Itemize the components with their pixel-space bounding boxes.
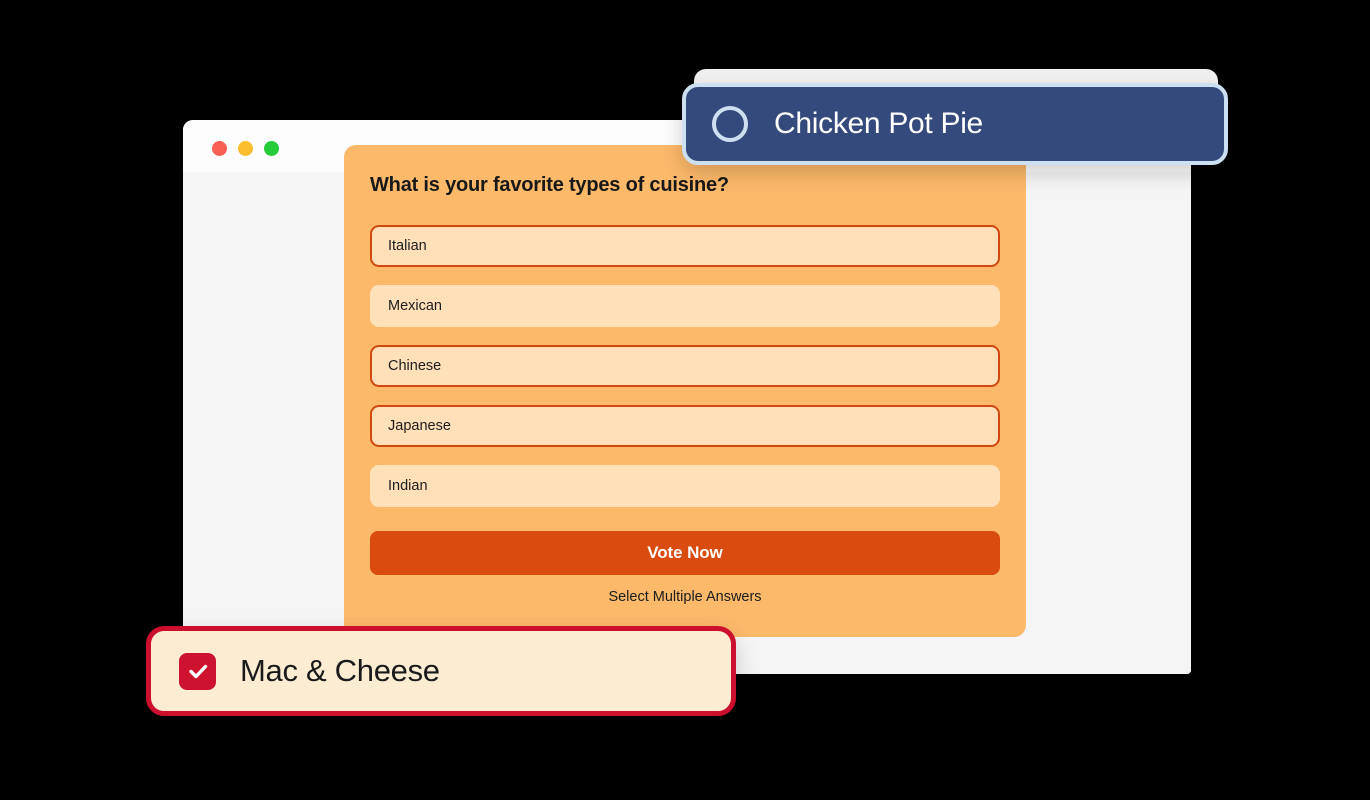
radio-circle-icon[interactable]: [712, 106, 748, 142]
floating-checkbox-card[interactable]: Mac & Cheese: [146, 626, 736, 716]
poll-card: What is your favorite types of cuisine? …: [344, 145, 1026, 637]
poll-option-label: Japanese: [388, 418, 451, 434]
floating-radio-card-label: Chicken Pot Pie: [774, 107, 983, 141]
poll-option-italian[interactable]: Italian: [370, 225, 1000, 267]
poll-footnote: Select Multiple Answers: [370, 589, 1000, 605]
poll-option-label: Indian: [388, 478, 428, 494]
floating-radio-card[interactable]: Chicken Pot Pie: [682, 83, 1228, 165]
poll-option-label: Mexican: [388, 298, 442, 314]
floating-checkbox-card-label: Mac & Cheese: [240, 653, 440, 689]
poll-option-mexican[interactable]: Mexican: [370, 285, 1000, 327]
minimize-window-button[interactable]: [238, 141, 253, 156]
poll-option-label: Chinese: [388, 358, 441, 374]
poll-option-indian[interactable]: Indian: [370, 465, 1000, 507]
traffic-light-group: [212, 141, 279, 156]
poll-option-chinese[interactable]: Chinese: [370, 345, 1000, 387]
close-window-button[interactable]: [212, 141, 227, 156]
poll-question: What is your favorite types of cuisine?: [370, 173, 1000, 197]
vote-now-button[interactable]: Vote Now: [370, 531, 1000, 575]
poll-option-list: Italian Mexican Chinese Japanese Indian: [370, 225, 1000, 507]
poll-option-label: Italian: [388, 238, 427, 254]
poll-option-japanese[interactable]: Japanese: [370, 405, 1000, 447]
maximize-window-button[interactable]: [264, 141, 279, 156]
checkbox-checked-icon[interactable]: [179, 653, 216, 690]
screenshot-stage: What is your favorite types of cuisine? …: [0, 0, 1370, 800]
